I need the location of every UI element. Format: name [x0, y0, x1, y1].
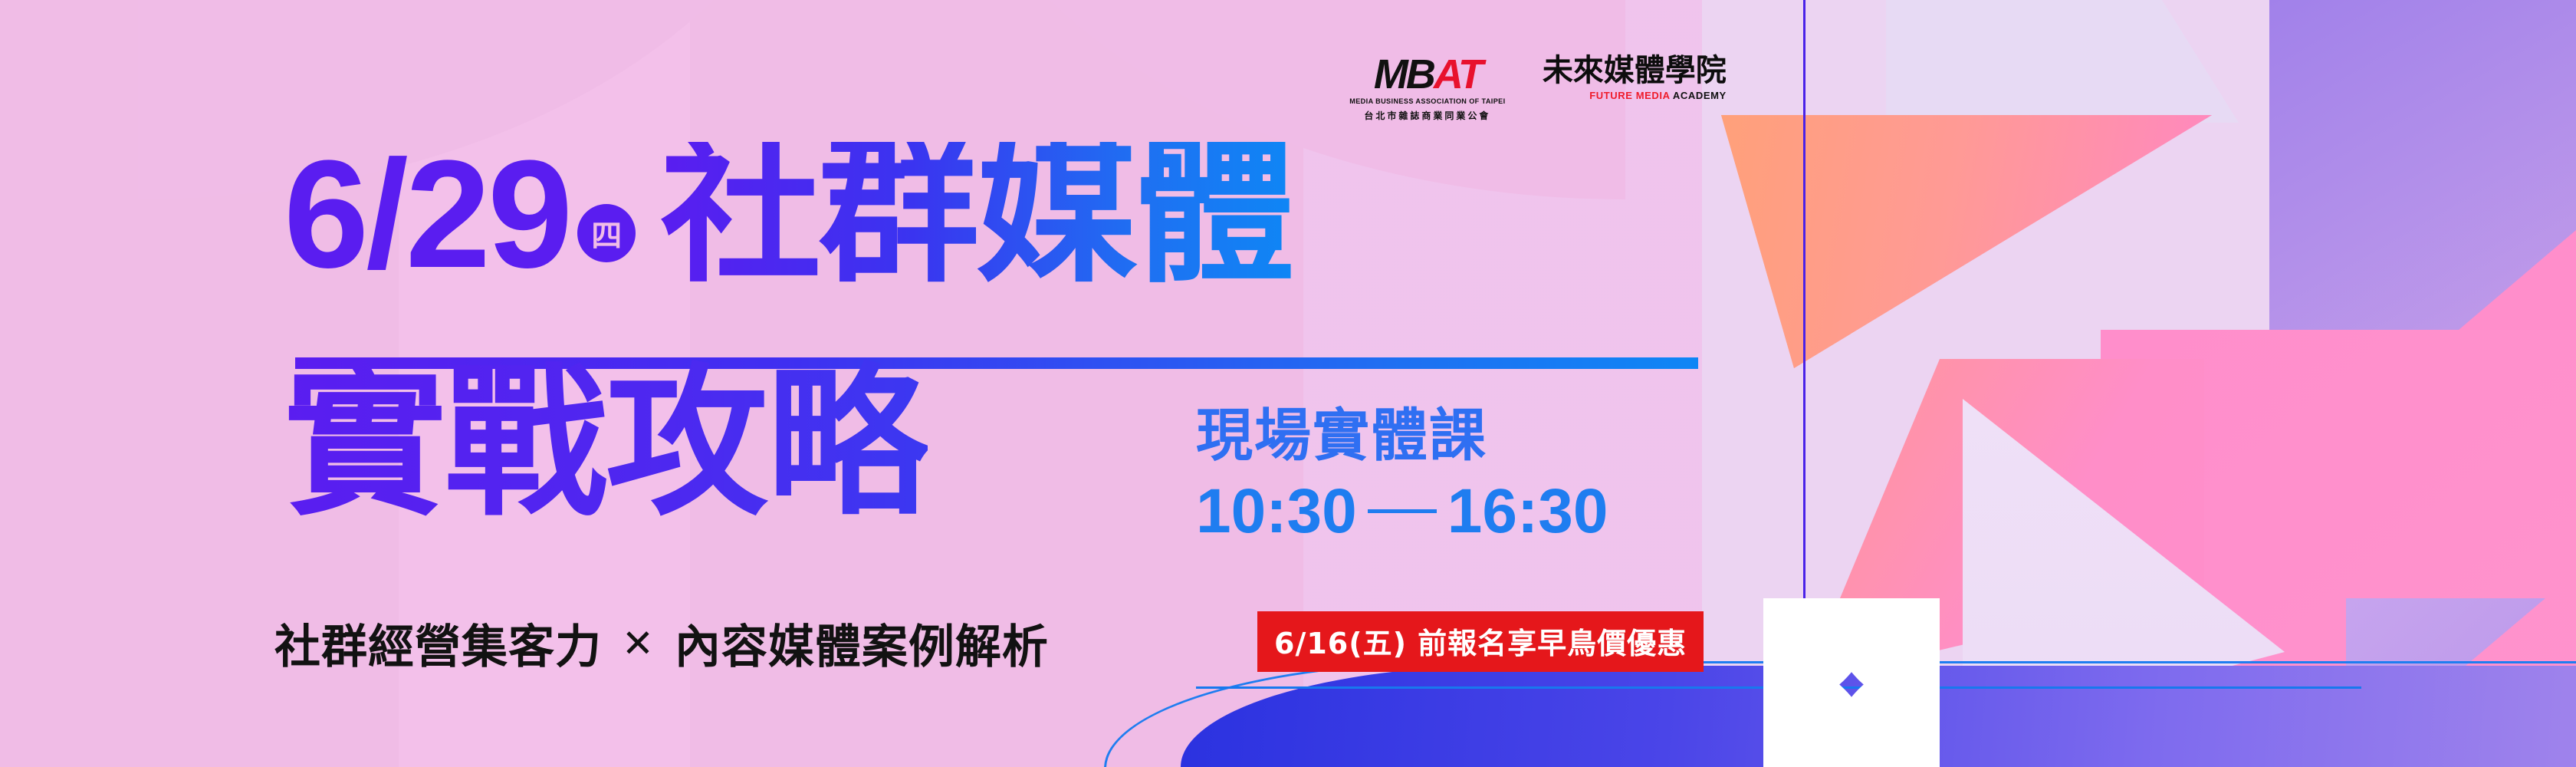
time-range-dash-icon	[1368, 509, 1437, 513]
mbat-wordmark: MBAT	[1374, 54, 1481, 95]
cross-separator-icon: ✕	[622, 621, 655, 666]
fma-english-red: FUTURE MEDIA	[1589, 90, 1670, 101]
event-banner: MBAT MEDIA BUSINESS ASSOCIATION OF TAIPE…	[0, 0, 2576, 767]
fma-chinese-name: 未來媒體學院	[1543, 55, 1727, 86]
mbat-letter-m: M	[1374, 51, 1406, 97]
mbat-letter-a: A	[1434, 51, 1458, 97]
session-info: 現場實體課 10:30 16:30	[1196, 407, 1608, 548]
mbat-logo[interactable]: MBAT MEDIA BUSINESS ASSOCIATION OF TAIPE…	[1346, 54, 1509, 120]
session-end-time: 16:30	[1447, 476, 1608, 548]
logo-group: MBAT MEDIA BUSINESS ASSOCIATION OF TAIPE…	[1346, 54, 1727, 120]
headline-row-one: 6/29 四 社群媒體	[284, 142, 1292, 282]
event-weekday-badge: 四	[577, 204, 636, 262]
mbat-chinese-name: 台北市雜誌商業同業公會	[1364, 111, 1490, 120]
event-date: 6/29	[284, 147, 570, 282]
future-media-academy-logo[interactable]: 未來媒體學院 FUTURE MEDIA ACADEMY	[1543, 54, 1727, 100]
mbat-letter-t: T	[1458, 51, 1481, 97]
mbat-english-name: MEDIA BUSINESS ASSOCIATION OF TAIPEI	[1349, 98, 1505, 106]
headline-line-one: 社群媒體	[660, 142, 1292, 282]
white-sparkle-bottom	[1763, 598, 1940, 767]
session-time-range: 10:30 16:30	[1196, 476, 1608, 548]
session-format-label: 現場實體課	[1196, 407, 1608, 466]
early-bird-badge[interactable]: 6/16(五) 前報名享早鳥價優惠	[1257, 611, 1704, 672]
fma-english-dark: ACADEMY	[1673, 90, 1727, 101]
fma-english-name: FUTURE MEDIA ACADEMY	[1589, 91, 1727, 100]
tagline-left-topic: 社群經營集客力	[274, 610, 602, 676]
course-tagline: 社群經營集客力 ✕ 內容媒體案例解析	[274, 610, 1049, 676]
mbat-letter-b: B	[1406, 51, 1434, 97]
headline-line-two: 實戰攻略	[284, 348, 928, 538]
tagline-right-topic: 內容媒體案例解析	[675, 610, 1049, 676]
session-start-time: 10:30	[1196, 476, 1357, 548]
headline-row-two: 實戰攻略	[284, 368, 928, 518]
